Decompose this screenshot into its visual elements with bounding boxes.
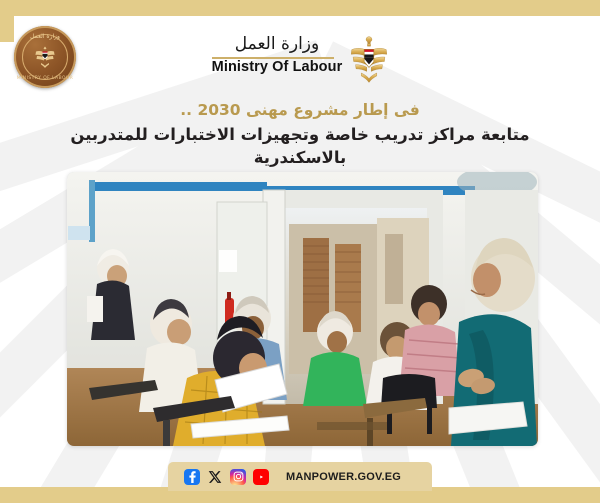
headline-block: فى إطار مشروع مهنى 2030 .. متابعة مراكز … [30, 100, 570, 169]
poster-canvas: وزارة العمل MIN [0, 0, 600, 503]
x-twitter-icon[interactable] [207, 469, 223, 485]
headline-line-2: متابعة مراكز تدريب خاصة وتجهيزات الاختبا… [30, 123, 570, 169]
ministry-logo-text: وزارة العمل Ministry Of Labour [212, 34, 343, 76]
training-centre-exam-photo [67, 172, 538, 446]
youtube-icon[interactable] [253, 469, 269, 485]
website-url[interactable]: MANPOWER.GOV.EG [286, 471, 401, 483]
facebook-glyph [187, 471, 197, 483]
instagram-icon[interactable] [230, 469, 246, 485]
youtube-glyph [256, 473, 267, 481]
ministry-name-arabic: وزارة العمل [212, 36, 343, 56]
instagram-glyph [233, 471, 244, 482]
social-links-bar: MANPOWER.GOV.EG [168, 462, 432, 491]
top-gold-band [0, 0, 600, 16]
facebook-icon[interactable] [184, 469, 200, 485]
x-glyph [208, 470, 222, 484]
ministry-logo: وزارة العمل Ministry Of Labour [0, 34, 600, 86]
egypt-eagle-emblem-icon [350, 34, 388, 86]
photo-illustration [67, 172, 538, 446]
headline-line-1: فى إطار مشروع مهنى 2030 .. [30, 100, 570, 121]
ministry-name-english: Ministry Of Labour [212, 60, 343, 76]
